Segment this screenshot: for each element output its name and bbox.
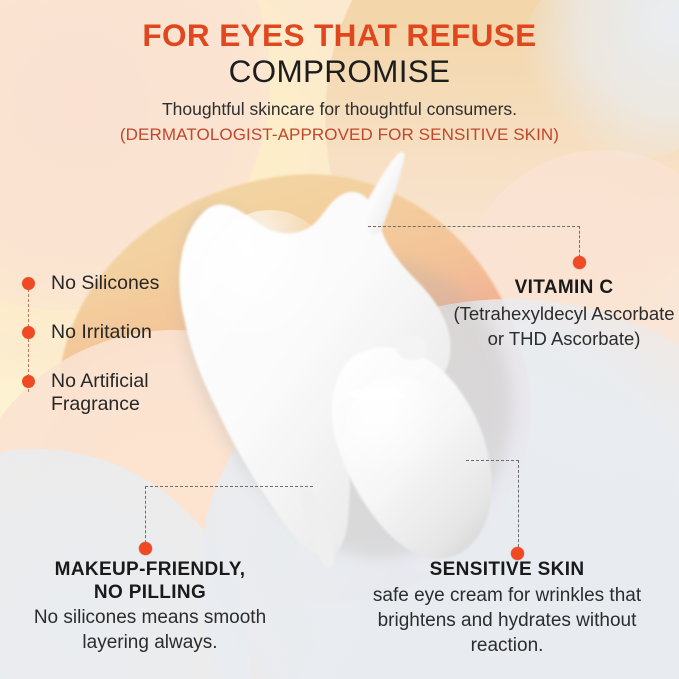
callout-body: safe eye cream for wrinkles that brighte…: [352, 583, 662, 658]
callout-body: (Tetrahexyldecyl Ascorbate or THD Ascorb…: [449, 301, 679, 351]
benefit-bullet-list: No Silicones No Irritation No Artificial…: [22, 272, 159, 416]
callout-vitamin-c: VITAMIN C (Tetrahexyldecyl Ascorbate or …: [449, 276, 679, 351]
cream-highlight-upper: [200, 210, 340, 370]
marker-dot-makeup: [139, 542, 152, 555]
header-subtitle-note: (DERMATOLOGIST-APPROVED FOR SENSITIVE SK…: [0, 123, 679, 147]
bullet-label: No Irritation: [51, 321, 152, 344]
list-item: No Silicones: [22, 272, 159, 295]
callout-sensitive-skin: SENSITIVE SKIN safe eye cream for wrinkl…: [352, 558, 662, 658]
list-item: No Artificial Fragrance: [22, 370, 159, 416]
cream-swatch-image: [150, 150, 540, 570]
bullet-dot-icon: [22, 326, 35, 339]
header-subtitle: Thoughtful skincare for thoughtful consu…: [0, 96, 679, 122]
infographic-poster: FOR EYES THAT REFUSE COMPROMISE Thoughtf…: [0, 0, 679, 679]
cream-peak: [364, 152, 405, 235]
callout-title: VITAMIN C: [449, 276, 679, 299]
list-item: No Irritation: [22, 321, 159, 344]
header: FOR EYES THAT REFUSE COMPROMISE Thoughtf…: [0, 18, 679, 147]
headline-secondary: COMPROMISE: [0, 52, 679, 91]
callout-title: SENSITIVE SKIN: [352, 558, 662, 581]
callout-title: MAKEUP-FRIENDLY, NO PILLING: [0, 558, 300, 604]
bullet-label: No Artificial Fragrance: [51, 370, 149, 416]
bullet-label: No Silicones: [51, 272, 159, 295]
callout-makeup-friendly: MAKEUP-FRIENDLY, NO PILLING No silicones…: [0, 558, 300, 656]
callout-body: No silicones means smooth layering alway…: [0, 606, 300, 655]
bullet-dot-icon: [22, 375, 35, 388]
headline-primary: FOR EYES THAT REFUSE: [0, 18, 679, 52]
bullet-dot-icon: [22, 277, 35, 290]
marker-dot-vitamin-c: [573, 256, 586, 269]
